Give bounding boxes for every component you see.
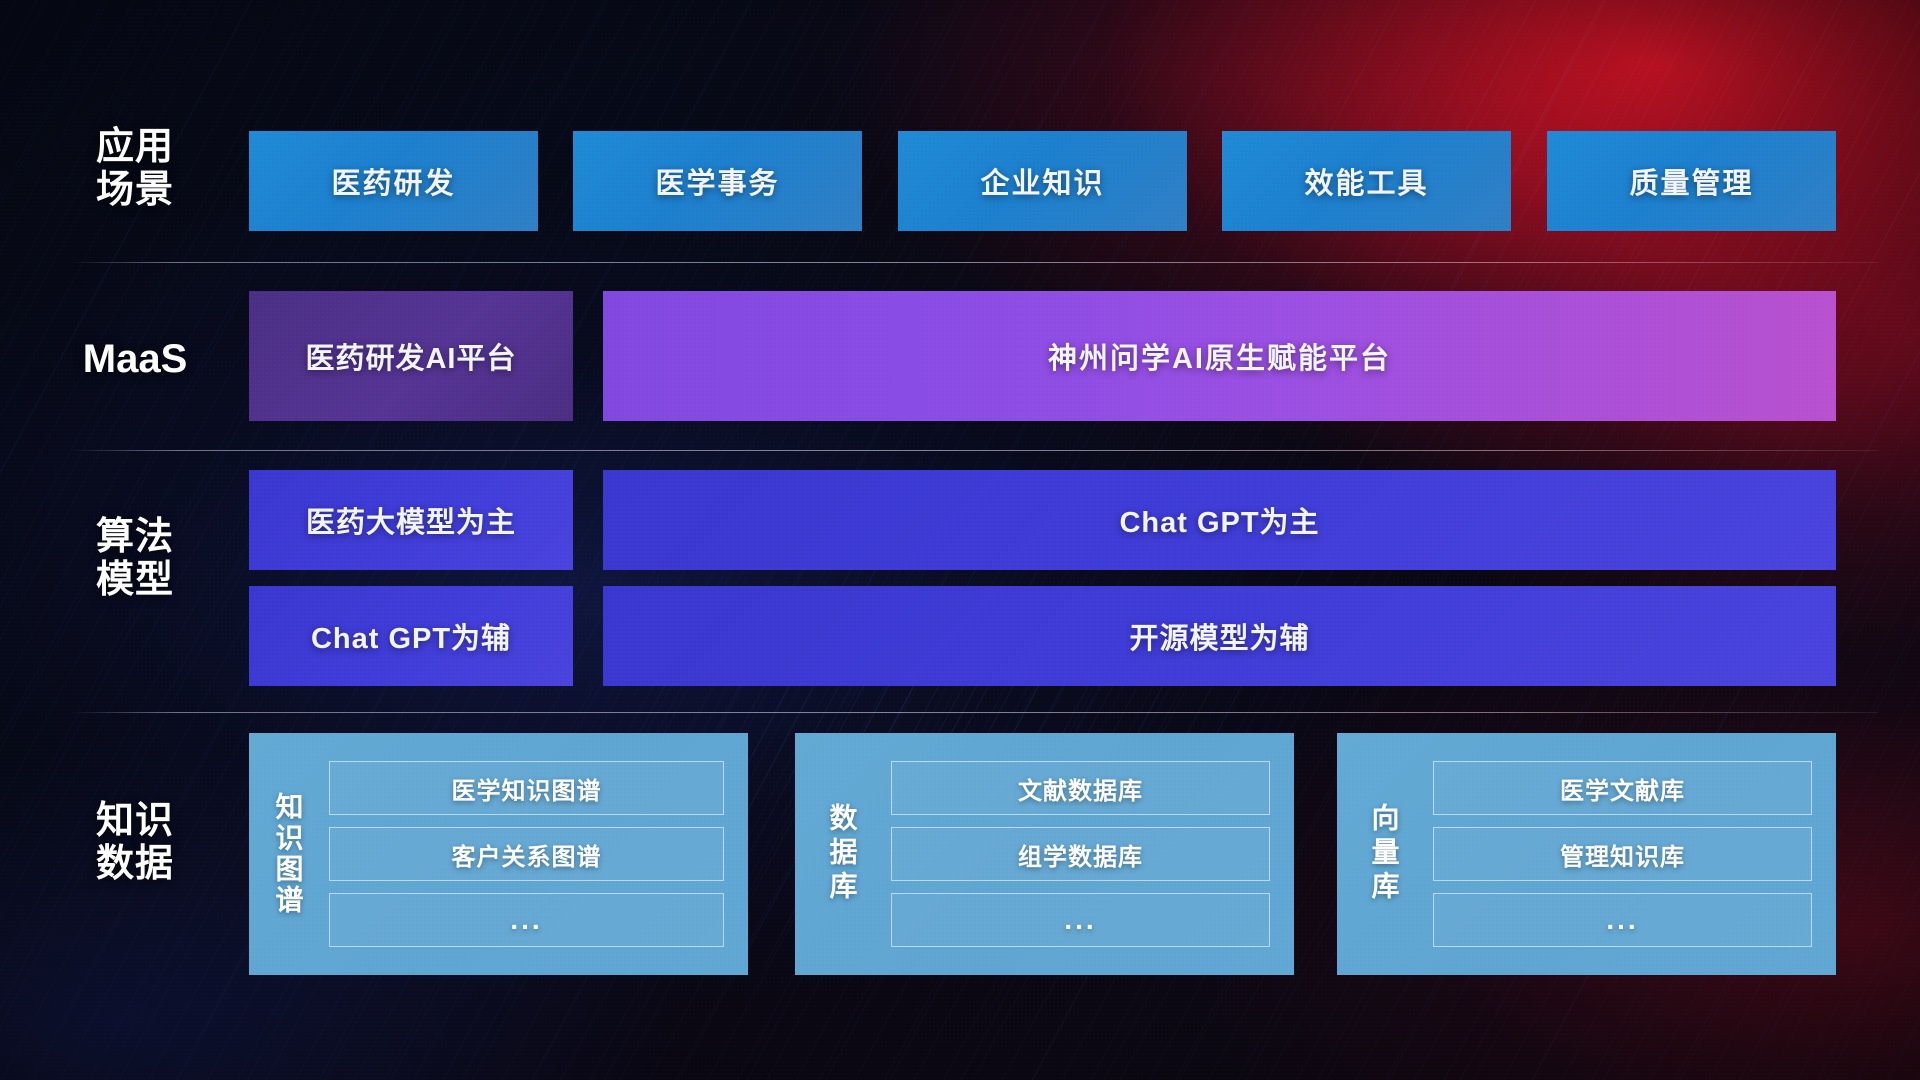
knowledge-item[interactable]: 文献数据库 — [891, 761, 1270, 815]
maas-box-shenzhou-platform[interactable]: 神州问学AI原生赋能平台 — [603, 291, 1836, 421]
maas-box-label: 神州问学AI原生赋能平台 — [1048, 335, 1391, 377]
knowledge-item[interactable]: 医学文献库 — [1433, 761, 1812, 815]
knowledge-panel-title-text: 知识图谱 — [271, 792, 304, 916]
knowledge-item-label: 组学数据库 — [1018, 837, 1143, 872]
knowledge-item[interactable]: 医学知识图谱 — [329, 761, 724, 815]
knowledge-panel-items: 医学知识图谱 客户关系图谱 ... — [327, 733, 748, 975]
maas-box-medicine-ai-platform[interactable]: 医药研发AI平台 — [249, 291, 573, 421]
algo-box-label: 开源模型为辅 — [1129, 615, 1309, 657]
knowledge-panel-items: 文献数据库 组学数据库 ... — [889, 733, 1294, 975]
divider-application-maas — [70, 262, 1878, 263]
app-box-efficiency-tools[interactable]: 效能工具 — [1222, 131, 1511, 231]
app-box-medical-affairs[interactable]: 医学事务 — [573, 131, 862, 231]
knowledge-panel-title: 知识图谱 — [249, 733, 327, 975]
knowledge-panel-knowledge-graph[interactable]: 知识图谱 医学知识图谱 客户关系图谱 ... — [249, 733, 748, 975]
app-box-enterprise-knowledge[interactable]: 企业知识 — [898, 131, 1187, 231]
algo-box-label: 医药大模型为主 — [306, 499, 516, 541]
app-box-medicine-rd[interactable]: 医药研发 — [249, 131, 538, 231]
knowledge-panel-items: 医学文献库 管理知识库 ... — [1431, 733, 1836, 975]
knowledge-panel-database[interactable]: 数据库 文献数据库 组学数据库 ... — [795, 733, 1294, 975]
knowledge-item-label: 医学文献库 — [1560, 771, 1685, 806]
knowledge-item[interactable]: ... — [891, 893, 1270, 947]
knowledge-item-label: ... — [1606, 904, 1638, 936]
divider-algorithm-knowledge — [70, 712, 1878, 713]
knowledge-item[interactable]: 组学数据库 — [891, 827, 1270, 881]
knowledge-item-label: 医学知识图谱 — [452, 771, 602, 806]
divider-maas-algorithm — [70, 450, 1878, 451]
app-box-label: 医药研发 — [331, 160, 455, 202]
knowledge-item-label: 客户关系图谱 — [452, 837, 602, 872]
knowledge-item[interactable]: ... — [1433, 893, 1812, 947]
maas-box-label: 医药研发AI平台 — [305, 335, 516, 377]
architecture-diagram: 应用 场景 医药研发 医学事务 企业知识 效能工具 质量管理 MaaS 医药研发… — [0, 0, 1920, 1080]
knowledge-panel-title: 向量库 — [1337, 733, 1431, 975]
knowledge-panel-vector-store[interactable]: 向量库 医学文献库 管理知识库 ... — [1337, 733, 1836, 975]
knowledge-item-label: ... — [510, 904, 542, 936]
app-box-label: 医学事务 — [655, 160, 779, 202]
app-box-label: 企业知识 — [980, 160, 1104, 202]
knowledge-item[interactable]: 管理知识库 — [1433, 827, 1812, 881]
knowledge-item-label: 文献数据库 — [1018, 771, 1143, 806]
row-label-algorithm: 算法 模型 — [70, 516, 200, 601]
algo-box-label: Chat GPT为主 — [1119, 499, 1319, 541]
algo-box-medicine-llm-primary[interactable]: 医药大模型为主 — [249, 470, 573, 570]
algo-box-chatgpt-secondary[interactable]: Chat GPT为辅 — [249, 586, 573, 686]
knowledge-panel-title-text: 向量库 — [1367, 803, 1400, 905]
row-label-knowledge: 知识 数据 — [70, 800, 200, 885]
algo-box-chatgpt-primary[interactable]: Chat GPT为主 — [603, 470, 1836, 570]
algo-box-opensource-secondary[interactable]: 开源模型为辅 — [603, 586, 1836, 686]
knowledge-panel-title-text: 数据库 — [825, 803, 858, 905]
knowledge-item-label: ... — [1064, 904, 1096, 936]
row-label-maas: MaaS — [70, 337, 200, 382]
row-label-application: 应用 场景 — [70, 126, 200, 211]
knowledge-panel-title: 数据库 — [795, 733, 889, 975]
app-box-label: 质量管理 — [1629, 160, 1753, 202]
app-box-label: 效能工具 — [1304, 160, 1428, 202]
knowledge-item[interactable]: 客户关系图谱 — [329, 827, 724, 881]
knowledge-item[interactable]: ... — [329, 893, 724, 947]
app-box-quality-management[interactable]: 质量管理 — [1547, 131, 1836, 231]
knowledge-item-label: 管理知识库 — [1560, 837, 1685, 872]
algo-box-label: Chat GPT为辅 — [311, 615, 511, 657]
